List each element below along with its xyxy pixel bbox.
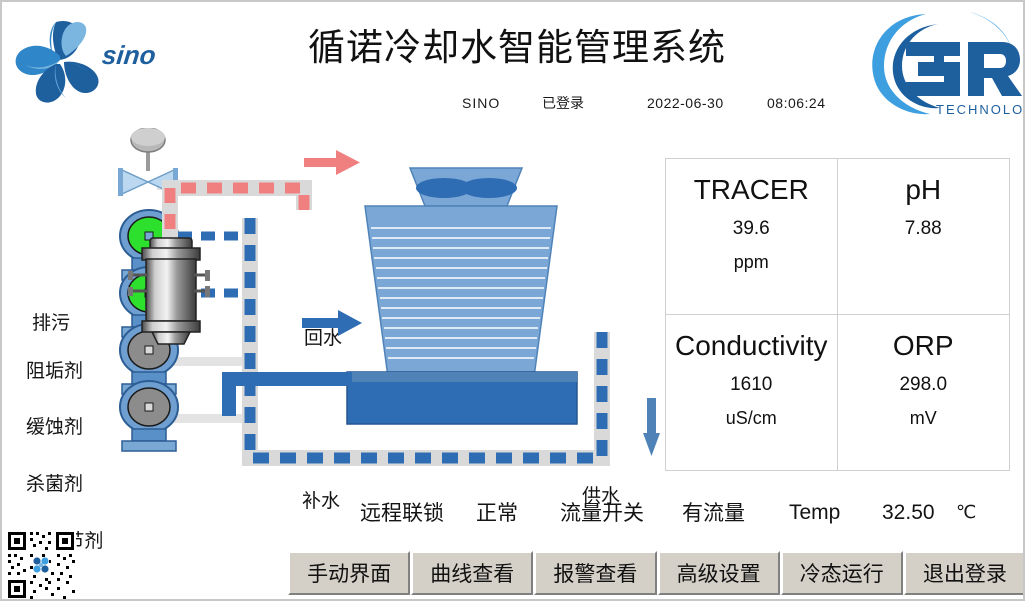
measurement-unit: ppm [734, 249, 769, 275]
measurement-title: TRACER [694, 173, 809, 207]
measurement-value: 1610 [730, 371, 772, 399]
application-window: sino 循诺冷却水智能管理系统 SINO 已登录 2022-06-30 08:… [0, 0, 1025, 601]
measurement-cell-ph[interactable]: pH 7.88 [838, 159, 1010, 315]
system-date: 2022-06-30 [647, 92, 724, 114]
supply-in-arrow [302, 310, 362, 336]
temperature-label: Temp [789, 496, 840, 530]
3r-tagline: TECHNOLOGY [936, 102, 1022, 117]
measurement-cell-conductivity[interactable]: Conductivity 1610 uS/cm [666, 315, 838, 471]
diagram-canvas [2, 128, 662, 488]
flow-switch-label: 流量开关 [560, 496, 644, 530]
pump-ph-adjuster[interactable] [120, 381, 178, 451]
alarm-view-button[interactable]: 报警查看 [534, 551, 656, 595]
measurement-cell-orp[interactable]: ORP 298.0 mV [838, 315, 1010, 471]
logout-button[interactable]: 退出登录 [904, 551, 1025, 595]
svg-text:sino: sino [102, 40, 157, 70]
session-info-bar: SINO 已登录 2022-06-30 08:06:24 [412, 92, 882, 114]
sino-wordmark-icon: sino [102, 38, 190, 72]
temperature-value: 32.50 [882, 496, 935, 530]
measurement-cell-tracer[interactable]: TRACER 39.6 ppm [666, 159, 838, 315]
loop-down-arrow [643, 398, 660, 456]
remote-interlock-value: 正常 [476, 496, 518, 530]
remote-interlock-label: 远程联锁 [360, 496, 444, 530]
label-makeup-water: 补水 [302, 486, 340, 513]
cooling-tower [347, 168, 577, 424]
header-bar: sino 循诺冷却水智能管理系统 SINO 已登录 2022-06-30 08:… [2, 2, 1023, 128]
flow-switch-value: 有流量 [682, 496, 745, 530]
sino-logo: sino [10, 12, 190, 112]
measurement-value: 298.0 [899, 371, 947, 399]
session-user: SINO [462, 92, 500, 114]
temperature-unit: ℃ [956, 496, 976, 530]
page-title: 循诺冷却水智能管理系统 [257, 20, 777, 76]
advanced-settings-button[interactable]: 高级设置 [658, 551, 780, 595]
qr-center-logo [33, 557, 49, 573]
manual-screen-button[interactable]: 手动界面 [288, 551, 410, 595]
measurement-title: pH [905, 173, 941, 207]
sino-flower-icon [10, 16, 110, 108]
measurement-unit: mV [910, 405, 937, 431]
process-diagram: 排污 阻垢剂 缓蚀剂 杀菌剂 pH调节剂 回水 补水 供水 [2, 128, 662, 488]
cold-run-button[interactable]: 冷态运行 [781, 551, 903, 595]
return-flow-arrow [304, 150, 360, 175]
measurement-panel: TRACER 39.6 ppm pH 7.88 Conductivity 161… [665, 158, 1010, 471]
measurement-value: 7.88 [905, 215, 942, 243]
navigation-button-bar: 手动界面 曲线查看 报警查看 高级设置 冷态运行 退出登录 [288, 551, 1025, 597]
trend-view-button[interactable]: 曲线查看 [411, 551, 533, 595]
measurement-value: 39.6 [733, 215, 770, 243]
3r-technology-logo: TECHNOLOGY [864, 8, 1022, 120]
system-time: 08:06:24 [767, 92, 826, 114]
measurement-unit: uS/cm [726, 405, 777, 431]
status-bar: 远程联锁 正常 流量开关 有流量 Temp 32.50 ℃ [352, 496, 1012, 530]
measurement-title: ORP [893, 329, 954, 363]
makeup-water-pipe [222, 372, 352, 416]
measurement-title: Conductivity [675, 329, 828, 363]
qr-code[interactable] [6, 530, 110, 600]
session-status: 已登录 [542, 92, 584, 114]
